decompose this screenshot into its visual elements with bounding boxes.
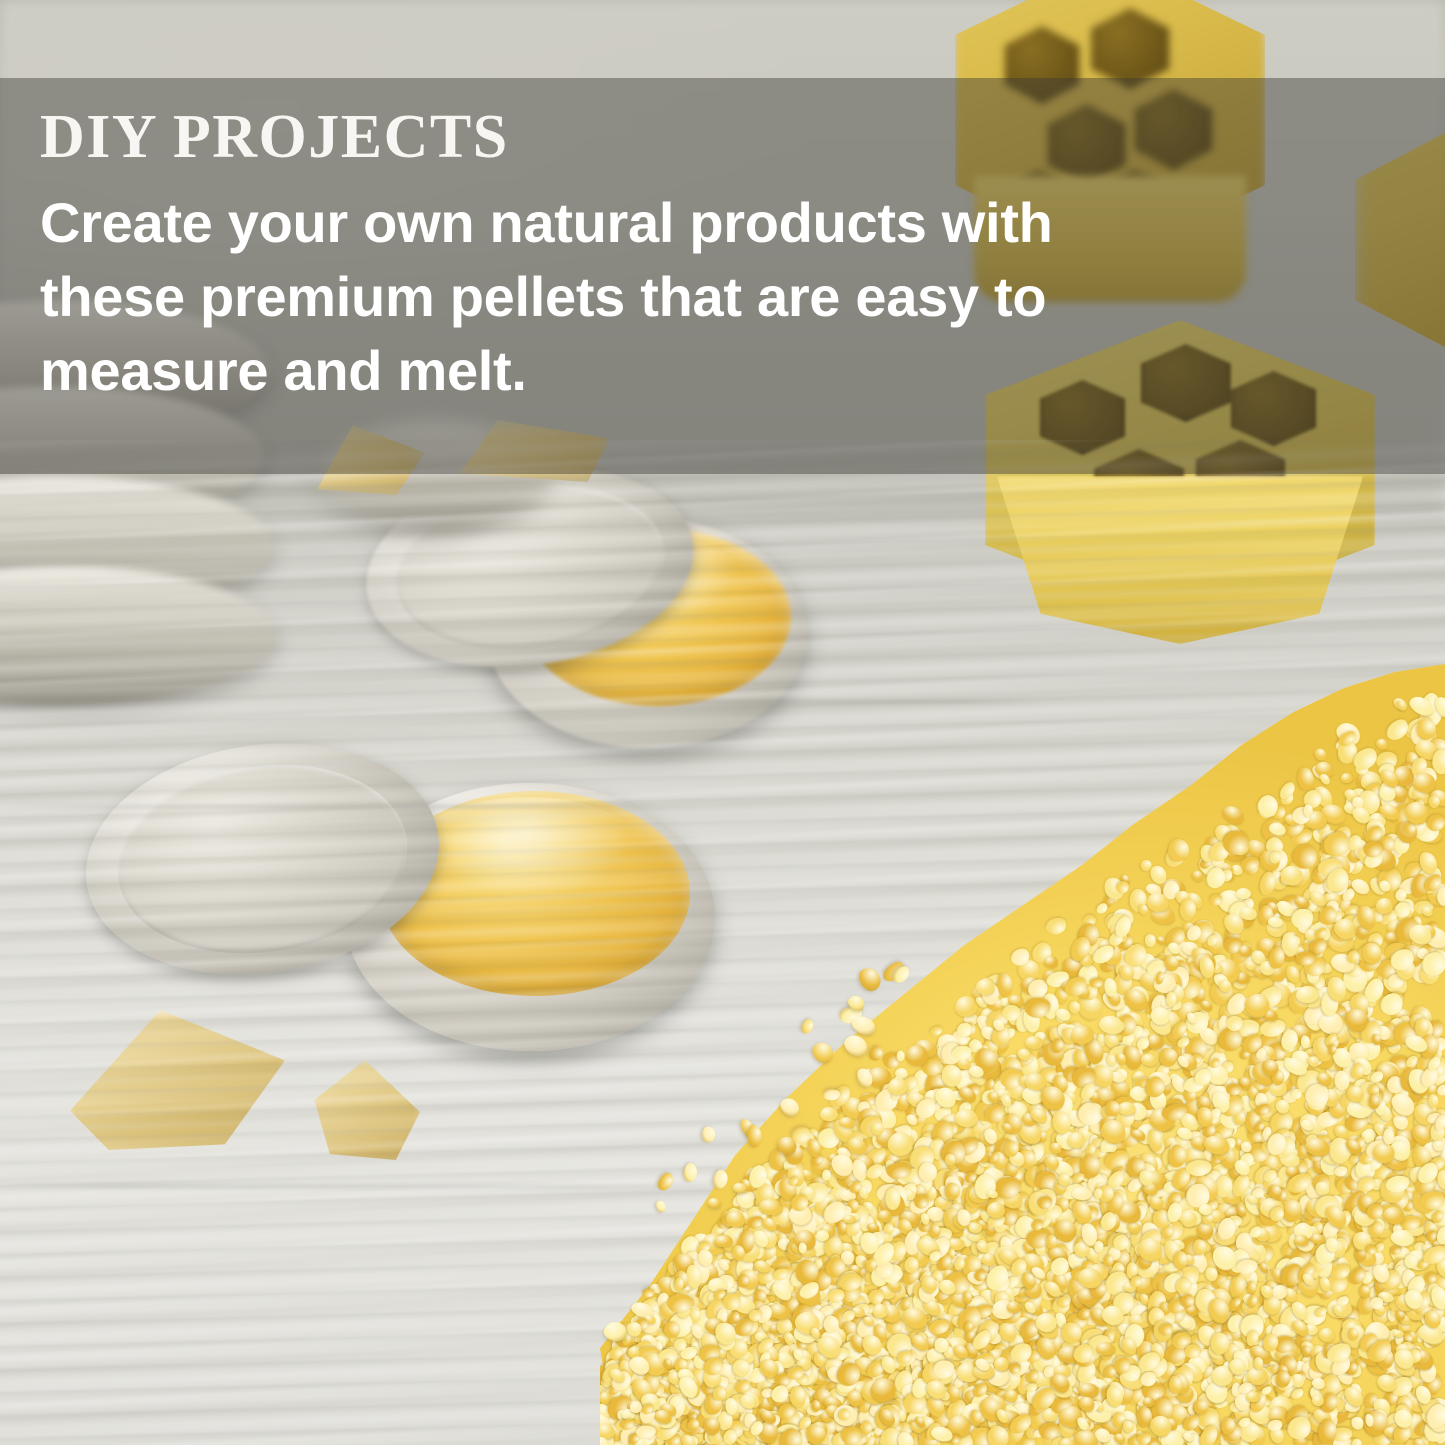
product-lifestyle-image: DIY PROJECTS Create your own natural pro… (0, 0, 1445, 1445)
page-title: DIY PROJECTS (40, 106, 509, 168)
caption-content: DIY PROJECTS Create your own natural pro… (40, 78, 1405, 474)
caption-body-text: Create your own natural products with th… (40, 186, 1200, 408)
caption-overlay-band: DIY PROJECTS Create your own natural pro… (0, 78, 1445, 474)
beeswax-pellet-pile (600, 640, 1445, 1445)
